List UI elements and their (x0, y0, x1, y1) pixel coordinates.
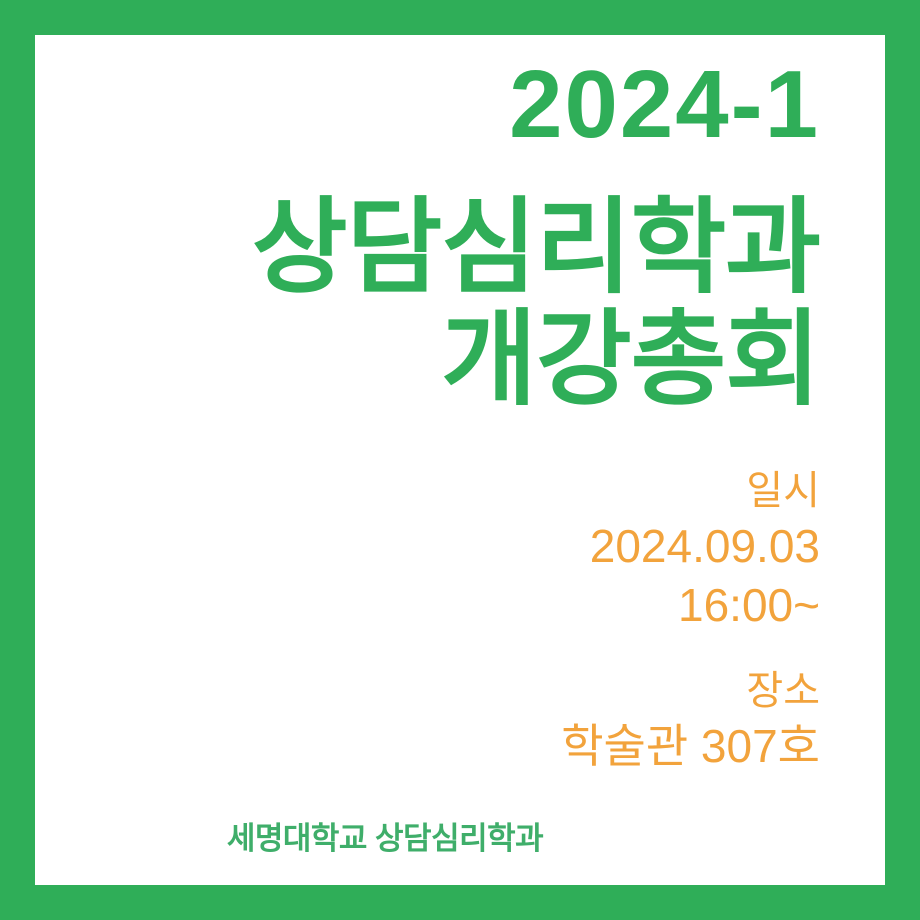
when-date-value: 2024.09.03 (35, 517, 820, 576)
title-line-department: 상담심리학과 (35, 190, 820, 306)
when-label: 일시 (35, 465, 820, 517)
where-venue-value: 학술관 307호 (35, 717, 820, 776)
headline-block: 2024-1 상담심리학과 개강총회 (35, 55, 820, 419)
when-time-value: 16:00~ (35, 576, 820, 635)
info-block-where: 장소 학술관 307호 (35, 665, 820, 776)
info-block-when: 일시 2024.09.03 16:00~ (35, 465, 820, 635)
poster-root: 2024-1 상담심리학과 개강총회 일시 2024.09.03 16:00~ … (0, 0, 920, 920)
footer-organization: 세명대학교 상담심리학과 (35, 813, 735, 858)
poster-canvas: 2024-1 상담심리학과 개강총회 일시 2024.09.03 16:00~ … (35, 35, 885, 885)
title-line-event: 개강총회 (35, 302, 820, 418)
where-label: 장소 (35, 665, 820, 717)
semester-text: 2024-1 (35, 55, 820, 156)
